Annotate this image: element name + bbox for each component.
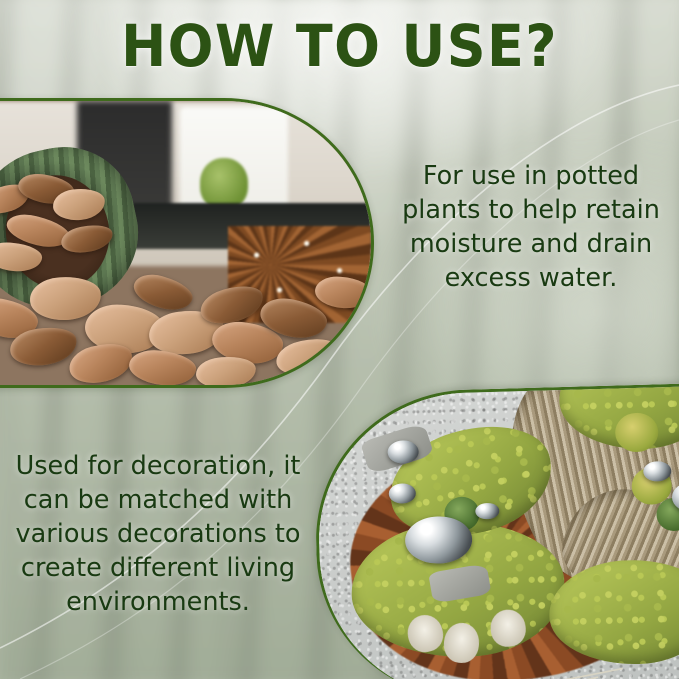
moss-diorama-image: [315, 386, 679, 679]
moss-diorama-photo: [312, 383, 679, 679]
pine-bark-chips-photo: [0, 98, 374, 388]
poster-canvas: HOW TO USE?: [0, 0, 679, 679]
page-title: HOW TO USE?: [24, 17, 655, 75]
bark-chip-cluster: [0, 101, 371, 385]
pine-bark-chips-image: [0, 101, 371, 385]
flower-stems: [315, 386, 679, 679]
bottom-left-description: Used for decoration, it can be matched w…: [2, 450, 314, 620]
top-right-description: For use in potted plants to help retain …: [386, 160, 676, 296]
